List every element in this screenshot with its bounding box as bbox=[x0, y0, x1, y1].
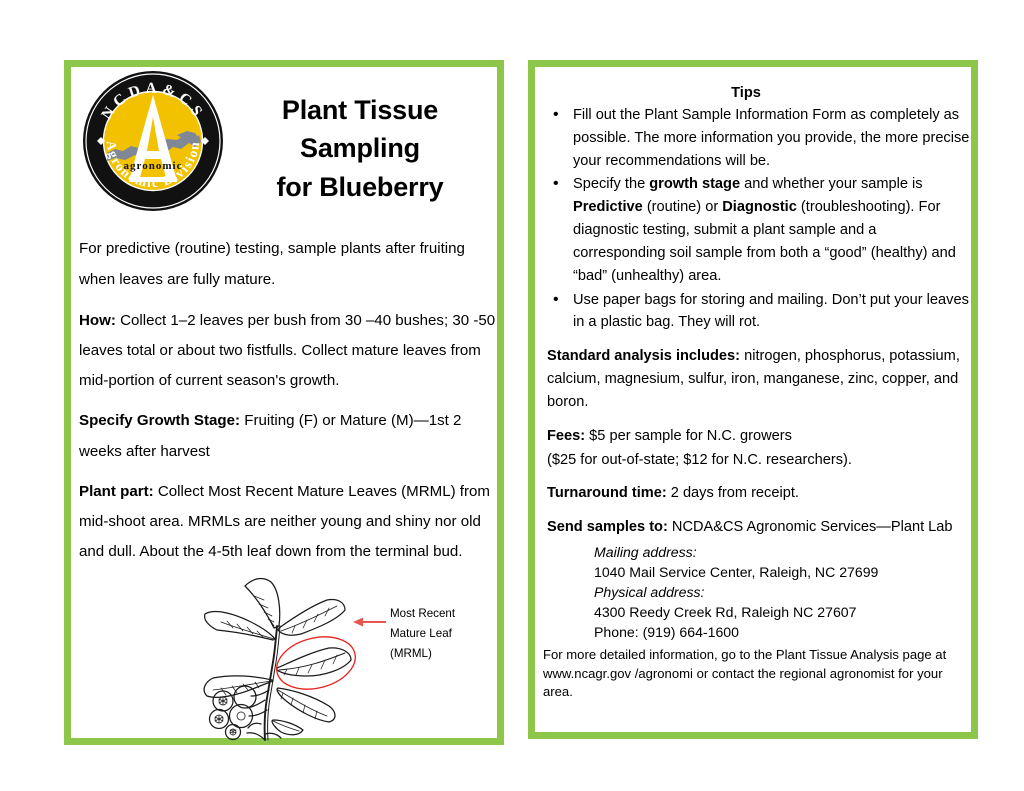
send-samples-paragraph: Send samples to: NCDA&CS Agronomic Servi… bbox=[547, 516, 972, 539]
how-label: How: bbox=[79, 312, 116, 329]
bullet-icon: • bbox=[553, 172, 559, 196]
list-item: • Specify the growth stage and whether y… bbox=[540, 173, 972, 287]
phone-number: Phone: (919) 664-1600 bbox=[594, 622, 972, 642]
tip-fragment-bold: growth stage bbox=[649, 176, 740, 192]
title-line-2: Sampling bbox=[231, 129, 489, 167]
fees-text: $5 per sample for N.C. growers bbox=[585, 428, 792, 444]
flyer-page: agronomic NCDA&CS Agronomic Division Pla… bbox=[0, 0, 1024, 791]
tip-fragment-bold: Diagnostic bbox=[722, 199, 797, 215]
fees-label: Fees: bbox=[547, 428, 585, 444]
standard-analysis-paragraph: Standard analysis includes: nitrogen, ph… bbox=[547, 345, 972, 413]
how-paragraph: How: Collect 1–2 leaves per bush from 30… bbox=[79, 306, 497, 397]
mrml-callout-label: Most Recent Mature Leaf (MRML) bbox=[390, 604, 500, 664]
ncdacs-agronomic-division-logo-icon: agronomic NCDA&CS Agronomic Division bbox=[81, 69, 225, 213]
mailing-address-label: Mailing address: bbox=[594, 542, 972, 562]
fees-secondary-text: ($25 for out-of-state; $12 for N.C. rese… bbox=[547, 449, 972, 472]
fees-paragraph: Fees: $5 per sample for N.C. growers bbox=[547, 425, 972, 448]
plant-part-paragraph: Plant part: Collect Most Recent Mature L… bbox=[79, 477, 497, 568]
tip-text: Fill out the Plant Sample Information Fo… bbox=[573, 107, 969, 169]
turnaround-label: Turnaround time: bbox=[547, 485, 667, 501]
turnaround-text: 2 days from receipt. bbox=[667, 485, 799, 501]
plant-part-label: Plant part: bbox=[79, 483, 154, 500]
tips-list: • Fill out the Plant Sample Information … bbox=[540, 104, 972, 334]
send-samples-label: Send samples to: bbox=[547, 519, 668, 535]
tip-text: Use paper bags for storing and mailing. … bbox=[573, 292, 969, 331]
intro-paragraph: For predictive (routine) testing, sample… bbox=[79, 233, 497, 296]
left-panel-body: For predictive (routine) testing, sample… bbox=[79, 233, 497, 577]
tip-fragment: (routine) or bbox=[643, 199, 722, 215]
right-panel-body: Tips • Fill out the Plant Sample Informa… bbox=[540, 75, 972, 702]
bullet-icon: • bbox=[553, 288, 559, 312]
growth-stage-paragraph: Specify Growth Stage: Fruiting (F) or Ma… bbox=[79, 406, 497, 466]
standard-analysis-label: Standard analysis includes: bbox=[547, 348, 740, 364]
how-text: Collect 1–2 leaves per bush from 30 –40 … bbox=[79, 312, 495, 389]
send-samples-text: NCDA&CS Agronomic Services—Plant Lab bbox=[668, 519, 953, 535]
mrml-caption-line-1: Most Recent bbox=[390, 604, 500, 624]
growth-stage-label: Specify Growth Stage: bbox=[79, 412, 240, 429]
tip-fragment-bold: Predictive bbox=[573, 199, 643, 215]
mrml-callout-arrow bbox=[353, 618, 386, 627]
address-block: Mailing address: 1040 Mail Service Cente… bbox=[594, 542, 972, 642]
left-panel-header: agronomic NCDA&CS Agronomic Division Pla… bbox=[71, 67, 497, 229]
list-item: • Use paper bags for storing and mailing… bbox=[540, 289, 972, 335]
title-line-1: Plant Tissue bbox=[231, 91, 489, 129]
physical-address-label: Physical address: bbox=[594, 582, 972, 602]
footnote-text: For more detailed information, go to the… bbox=[543, 646, 972, 702]
title-line-3: for Blueberry bbox=[231, 168, 489, 206]
left-panel: agronomic NCDA&CS Agronomic Division Pla… bbox=[64, 60, 504, 745]
mrml-caption-line-2: Mature Leaf bbox=[390, 624, 500, 644]
tip-fragment: Specify the bbox=[573, 176, 649, 192]
page-title: Plant Tissue Sampling for Blueberry bbox=[231, 91, 489, 206]
turnaround-paragraph: Turnaround time: 2 days from receipt. bbox=[547, 482, 972, 505]
tips-heading: Tips bbox=[540, 85, 972, 101]
bullet-icon: • bbox=[553, 103, 559, 127]
tip-text: Specify the growth stage and whether you… bbox=[573, 176, 956, 283]
tip-fragment: and whether your sample is bbox=[740, 176, 923, 192]
physical-address-value: 4300 Reedy Creek Rd, Raleigh NC 27607 bbox=[594, 602, 972, 622]
mailing-address-value: 1040 Mail Service Center, Raleigh, NC 27… bbox=[594, 562, 972, 582]
list-item: • Fill out the Plant Sample Information … bbox=[540, 104, 972, 172]
mrml-caption-line-3: (MRML) bbox=[390, 644, 500, 664]
blueberry-branch-figure: Most Recent Mature Leaf (MRML) bbox=[161, 564, 501, 746]
right-panel: Tips • Fill out the Plant Sample Informa… bbox=[528, 60, 978, 739]
